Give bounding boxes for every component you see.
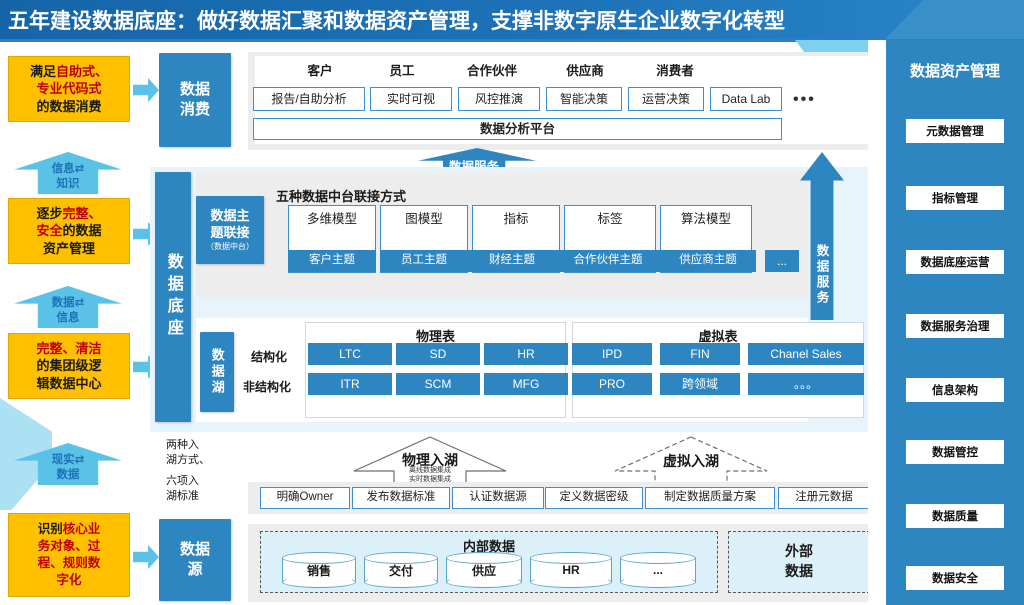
cylinder-label: ...	[620, 552, 696, 588]
value-text-segment: 务对象、过	[38, 539, 101, 553]
value-box-asset-management: 逐步完整、安全的数据资产管理	[8, 198, 130, 264]
audience-label-2: 合作伙伴	[452, 60, 532, 79]
stage-label-data-lake: 数据湖	[200, 332, 234, 412]
value-text-segment: 的集团级逻	[36, 358, 101, 373]
app-chip-3[interactable]: 智能决策	[546, 87, 622, 111]
theme-chip-1[interactable]: 员工主题	[380, 250, 468, 272]
external-data-title-line2: 数据	[785, 562, 813, 582]
external-data-group: 外部 数据	[728, 531, 870, 593]
app-chip-2[interactable]: 风控推演	[458, 87, 540, 111]
standard-chip-4[interactable]: 制定数据质量方案	[645, 487, 775, 509]
lake-tile-physical-structured-0[interactable]: LTC	[308, 343, 392, 365]
stage-label-data-consumption: 数据 消费	[159, 53, 231, 147]
value-line: 辑数据中心	[36, 375, 101, 393]
value-text-segment: 完整、清洁	[36, 341, 101, 356]
arrow-label-line2: 知识	[57, 177, 80, 191]
theme-chip-4[interactable]: 供应商主题	[660, 250, 756, 272]
value-text-segment: 完整、	[63, 206, 102, 221]
right-sidebar-gap	[868, 40, 886, 605]
arrow-label-line1: 信息⇄	[52, 162, 85, 176]
value-line: 识别核心业	[38, 521, 101, 538]
lake-tile-virtual-unstructured-2[interactable]: 。。。	[748, 373, 864, 395]
slide-header: 五年建设数据底座：做好数据汇聚和数据资产管理，支撑非数字原生企业数字化转型	[0, 0, 1024, 40]
standard-chip-0[interactable]: 明确Owner	[260, 487, 350, 509]
value-line: 字化	[56, 572, 81, 589]
app-chip-1[interactable]: 实时可视	[370, 87, 452, 111]
theme-panel-title: 五种数据中台联接方式	[276, 186, 506, 205]
stage-label-data-source: 数据 源	[159, 519, 231, 601]
stage-label-line1: 数据	[180, 80, 210, 100]
lake-tile-physical-unstructured-0[interactable]: ITR	[308, 373, 392, 395]
value-line: 务对象、过	[38, 538, 101, 555]
sidebar-item-7[interactable]: 数据安全	[906, 566, 1004, 590]
slide-canvas: 五年建设数据底座：做好数据汇聚和数据资产管理，支撑非数字原生企业数字化转型 满足…	[0, 0, 1024, 605]
sidebar-item-2[interactable]: 数据底座运营	[906, 250, 1004, 274]
arrow-info-knowledge: 信息⇄知识	[14, 152, 122, 194]
value-text-segment: 程、规则数	[38, 556, 101, 570]
source-cylinder-0[interactable]: 销售	[282, 552, 356, 588]
source-cylinder-2[interactable]: 供应	[446, 552, 522, 588]
theme-link-line1: 数据主	[210, 208, 249, 225]
audience-label-4: 消费者	[635, 60, 715, 79]
cylinder-label: 供应	[446, 552, 522, 588]
source-label-line2: 源	[187, 560, 202, 580]
lake-side-note-top: 两种入 湖方式、	[166, 438, 230, 468]
value-text-segment: 识别	[38, 522, 63, 536]
value-text-segment: 资产管理	[43, 241, 95, 256]
external-data-title-line1: 外部	[785, 542, 813, 562]
app-chip-5[interactable]: Data Lab	[710, 87, 782, 111]
value-text-segment: 辑数据中心	[36, 376, 101, 391]
lake-tile-physical-structured-2[interactable]: HR	[484, 343, 568, 365]
audience-label-0: 客户	[280, 60, 360, 79]
standard-chip-2[interactable]: 认证数据源	[452, 487, 544, 509]
value-line: 程、规则数	[38, 555, 101, 572]
sidebar-item-1[interactable]: 指标管理	[906, 186, 1004, 210]
value-text-segment: 的数据	[63, 223, 102, 238]
arrow-label-line1: 现实⇄	[52, 453, 85, 467]
app-chip-0[interactable]: 报告/自助分析	[253, 87, 365, 111]
value-text-segment: 满足	[30, 64, 56, 79]
lake-side-note-bottom: 六项入 湖标准	[166, 474, 230, 504]
value-text-segment: 字化	[56, 573, 81, 587]
value-line: 满足自助式、	[30, 63, 108, 81]
standard-chip-3[interactable]: 定义数据密级	[545, 487, 643, 509]
sidebar-item-0[interactable]: 元数据管理	[906, 119, 1004, 143]
virtual-ingestion-title: 虚拟入湖	[613, 451, 769, 471]
theme-chip-3[interactable]: 合作伙伴主题	[556, 250, 660, 272]
consumption-apps-more-icon[interactable]: •••	[793, 91, 816, 109]
connector-arrow-1	[133, 78, 159, 102]
theme-chip-0[interactable]: 客户主题	[288, 250, 376, 272]
stage-label-line2: 消费	[180, 100, 210, 120]
arrow-label-line2: 信息	[57, 311, 80, 325]
header-decoration-shape	[884, 0, 1024, 40]
audience-label-3: 供应商	[545, 60, 625, 79]
sidebar-item-3[interactable]: 数据服务治理	[906, 314, 1004, 338]
page-title: 五年建设数据底座：做好数据汇聚和数据资产管理，支撑非数字原生企业数字化转型	[8, 5, 785, 35]
lake-tile-virtual-unstructured-1[interactable]: 跨领域	[660, 373, 740, 395]
source-cylinder-1[interactable]: 交付	[364, 552, 438, 588]
lake-tile-virtual-structured-0[interactable]: IPD	[572, 343, 652, 365]
stage-label-data-foundation: 数据底座	[155, 172, 191, 422]
cylinder-label: HR	[530, 552, 612, 588]
sidebar-item-5[interactable]: 数据管控	[906, 440, 1004, 464]
theme-chip-2[interactable]: 财经主题	[468, 250, 556, 272]
value-text-segment: 安全	[36, 223, 62, 238]
lake-tile-virtual-unstructured-0[interactable]: PRO	[572, 373, 652, 395]
cylinder-label: 交付	[364, 552, 438, 588]
physical-ingestion-sub1: 离线数据集成	[409, 467, 451, 474]
value-text-segment: 核心业	[63, 522, 101, 536]
audience-label-1: 员工	[362, 60, 442, 79]
value-box-core-business-objects: 识别核心业务对象、过程、规则数字化	[8, 513, 130, 597]
value-line: 完整、清洁	[36, 340, 101, 358]
right-sidebar-title: 数据资产管理	[886, 60, 1024, 81]
data-analysis-platform-bar[interactable]: 数据分析平台	[253, 118, 782, 140]
arrow-label-line1: 数据⇄	[52, 296, 85, 310]
source-label-line1: 数据	[180, 540, 210, 560]
cylinder-label: 销售	[282, 552, 356, 588]
theme-more-chip[interactable]: ...	[765, 250, 799, 272]
standard-chip-1[interactable]: 发布数据标准	[352, 487, 450, 509]
lake-note-line4: 湖标准	[166, 490, 199, 502]
value-line: 专业代码式	[36, 80, 101, 98]
arrow-data-info: 数据⇄信息	[14, 286, 122, 328]
value-line: 的数据消费	[36, 98, 101, 116]
app-chip-4[interactable]: 运营决策	[628, 87, 704, 111]
value-line: 资产管理	[43, 240, 95, 258]
value-text-segment: 的数据消费	[36, 99, 101, 114]
value-line: 逐步完整、	[36, 205, 101, 223]
lake-note-line2: 湖方式、	[166, 454, 210, 466]
lake-tile-physical-structured-1[interactable]: SD	[396, 343, 480, 365]
value-text-segment: 自助式、	[56, 64, 108, 79]
value-text-segment: 专业代码式	[36, 81, 101, 96]
value-box-consumption: 满足自助式、专业代码式的数据消费	[8, 56, 130, 122]
source-cylinder-4[interactable]: ...	[620, 552, 696, 588]
data-service-vertical-label: 数据服务	[813, 244, 832, 320]
connector-arrow-4	[133, 545, 159, 569]
theme-link-note: （数据中台）	[206, 242, 254, 252]
theme-link-line2: 题联接	[210, 225, 249, 242]
row-label-structured: 结构化	[236, 348, 302, 365]
value-line: 安全的数据	[36, 222, 101, 240]
sidebar-item-4[interactable]: 信息架构	[906, 378, 1004, 402]
arrow-label-line2: 数据	[57, 468, 80, 482]
sidebar-item-6[interactable]: 数据质量	[906, 504, 1004, 528]
lake-note-line1: 两种入	[166, 439, 199, 451]
stage-label-theme-link: 数据主 题联接 （数据中台）	[196, 196, 264, 264]
lake-tile-virtual-structured-1[interactable]: FIN	[660, 343, 740, 365]
lake-tile-virtual-structured-2[interactable]: Chanel Sales	[748, 343, 864, 365]
lake-tile-physical-unstructured-2[interactable]: MFG	[484, 373, 568, 395]
source-cylinder-3[interactable]: HR	[530, 552, 612, 588]
lake-tile-physical-unstructured-1[interactable]: SCM	[396, 373, 480, 395]
value-text-segment: 逐步	[36, 206, 62, 221]
value-line: 的集团级逻	[36, 357, 101, 375]
lake-note-line3: 六项入	[166, 475, 199, 487]
standard-chip-5[interactable]: 注册元数据	[778, 487, 870, 509]
row-label-unstructured: 非结构化	[232, 378, 302, 395]
value-box-logical-datacenter: 完整、清洁的集团级逻辑数据中心	[8, 333, 130, 399]
